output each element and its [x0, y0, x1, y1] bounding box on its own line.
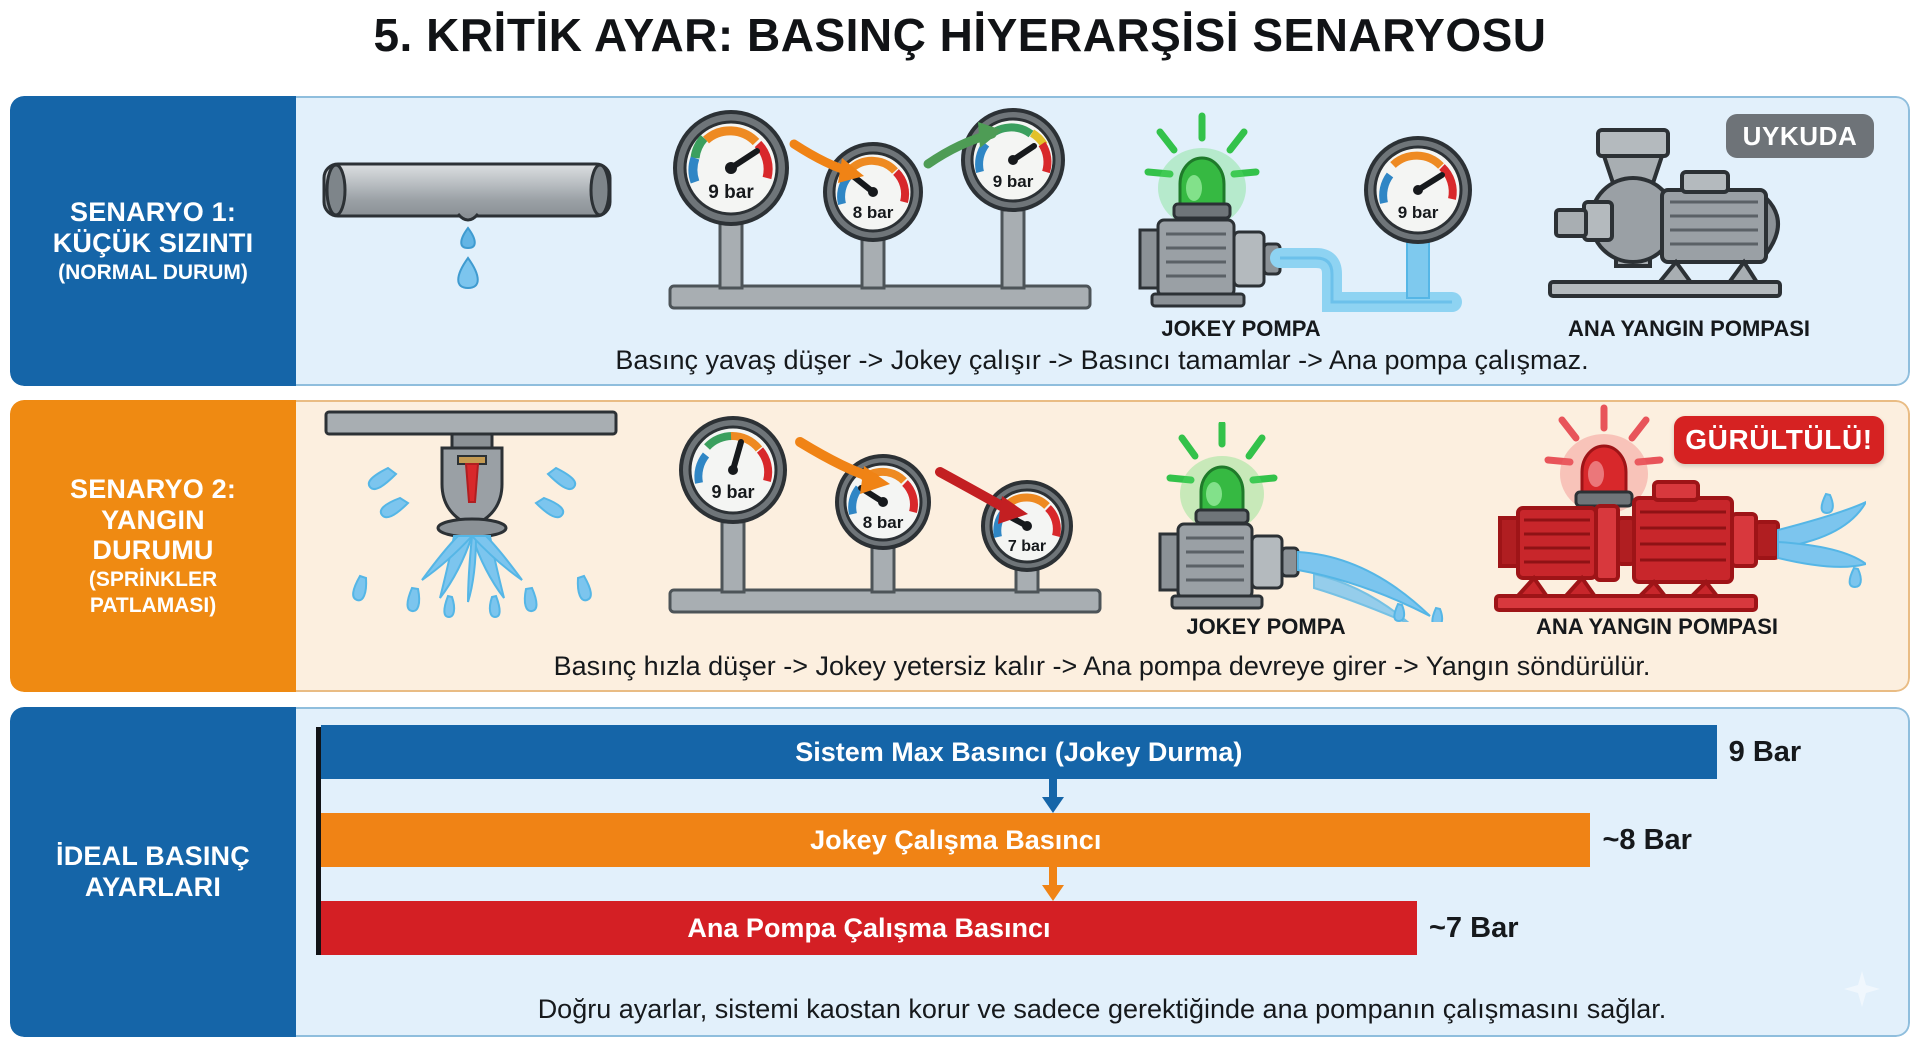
- sparkle-decoration-icon: [1842, 969, 1882, 1009]
- page-title: 5. KRİTİK AYAR: BASINÇ HİYERARŞİSİ SENAR…: [0, 8, 1920, 62]
- scenario-1-scene: 9 bar 8 bar: [296, 98, 1908, 324]
- main-pump-label-scenario-2: ANA YANGIN POMPASI: [1492, 614, 1822, 640]
- svg-text:9 bar: 9 bar: [1398, 203, 1439, 222]
- scenario-1-panel: SENARYO 1: KÜÇÜK SIZINTI (NORMAL DURUM): [10, 96, 1910, 386]
- main-pump-label-scenario-1: ANA YANGIN POMPASI: [1524, 316, 1854, 342]
- chart-bar-row-0: Sistem Max Basıncı (Jokey Durma) 9 Bar: [321, 725, 1898, 779]
- scenario-1-caption: Basınç yavaş düşer -> Jokey çalışır -> B…: [296, 345, 1908, 376]
- scenario-1-label: SENARYO 1: KÜÇÜK SIZINTI (NORMAL DURUM): [10, 96, 296, 386]
- jockey-pump-label-scenario-1: JOKEY POMPA: [1141, 316, 1341, 342]
- scenario-2-gauge-manifold: 9 bar 8 bar: [666, 414, 1106, 626]
- ideal-settings-label: İDEAL BASINÇ AYARLARI: [10, 707, 296, 1037]
- chart-bar-row-2: Ana Pompa Çalışma Basıncı ~7 Bar: [321, 901, 1898, 955]
- chart-bar-label-2: Ana Pompa Çalışma Basıncı: [321, 901, 1417, 955]
- scenario-1-body: 9 bar 8 bar: [296, 96, 1910, 386]
- scenario-2-panel: SENARYO 2: YANGIN DURUMU (SPRİNKLER PATL…: [10, 400, 1910, 692]
- scenario-2-title-line5: PATLAMASI): [90, 594, 216, 618]
- status-badge-uykuda: UYKUDA: [1726, 114, 1874, 158]
- chart-down-arrow-blue-icon: [1040, 779, 1066, 813]
- gauge-9bar-c: 9 bar: [681, 418, 785, 522]
- svg-text:9 bar: 9 bar: [708, 182, 754, 203]
- scenario-2-title-line4: (SPRİNKLER: [89, 568, 217, 592]
- ideal-settings-title-line2: AYARLARI: [85, 872, 221, 903]
- svg-text:9 bar: 9 bar: [711, 482, 754, 502]
- ideal-settings-panel: İDEAL BASINÇ AYARLARI Sistem Max Basıncı…: [10, 707, 1910, 1037]
- scenario-1-title-line1: SENARYO 1:: [70, 197, 236, 228]
- gauge-8bar-a: 8 bar: [825, 144, 921, 240]
- chart-bar-label-1: Jokey Çalışma Basıncı: [321, 813, 1590, 867]
- jockey-pump-assembly-scenario-1: 9 bar: [1116, 108, 1536, 324]
- ideal-settings-caption: Doğru ayarlar, sistemi kaostan korur ve …: [296, 994, 1908, 1025]
- leaking-pipe-icon: [318, 154, 618, 304]
- ideal-settings-body: Sistem Max Basıncı (Jokey Durma) 9 Bar J…: [296, 707, 1910, 1037]
- chart-bar-value-1: ~8 Bar: [1602, 824, 1691, 857]
- svg-text:8 bar: 8 bar: [853, 203, 894, 222]
- pressure-hierarchy-bar-chart: Sistem Max Basıncı (Jokey Durma) 9 Bar J…: [310, 723, 1898, 959]
- scenario-2-caption: Basınç hızla düşer -> Jokey yetersiz kal…: [296, 651, 1908, 682]
- svg-text:9 bar: 9 bar: [993, 172, 1034, 191]
- scenario-1-title-line3: (NORMAL DURUM): [58, 261, 248, 285]
- scenario-2-title-line1: SENARYO 2:: [70, 474, 236, 505]
- gauge-9bar-b: 9 bar: [963, 110, 1063, 210]
- gauge-9bar-a: 9 bar: [675, 112, 787, 224]
- ideal-settings-title-line1: İDEAL BASINÇ: [56, 841, 250, 872]
- status-badge-gurultulu: GÜRÜLTÜLÜ!: [1674, 416, 1884, 464]
- sprinkler-burst-icon: [316, 406, 646, 626]
- svg-text:7 bar: 7 bar: [1008, 538, 1046, 555]
- jockey-pump-label-scenario-2: JOKEY POMPA: [1156, 614, 1376, 640]
- scenario-1-gauge-manifold: 9 bar 8 bar: [666, 106, 1096, 324]
- scenario-2-label: SENARYO 2: YANGIN DURUMU (SPRİNKLER PATL…: [10, 400, 296, 692]
- gauge-7bar: 7 bar: [983, 482, 1071, 570]
- scenario-2-scene: 9 bar 8 bar: [296, 402, 1908, 628]
- scenario-2-body: 9 bar 8 bar: [296, 400, 1910, 692]
- chart-bar-value-0: 9 Bar: [1729, 736, 1802, 769]
- chart-bar-value-2: ~7 Bar: [1429, 912, 1518, 945]
- gauge-9bar-outlet: 9 bar: [1366, 138, 1470, 298]
- svg-text:8 bar: 8 bar: [863, 513, 904, 532]
- scenario-1-title-line2: KÜÇÜK SIZINTI: [53, 228, 254, 259]
- scenario-2-title-line3: DURUMU: [92, 535, 213, 566]
- green-beacon-icon: [1148, 116, 1256, 228]
- chart-down-arrow-orange-icon: [1040, 867, 1066, 901]
- chart-bar-label-0: Sistem Max Basıncı (Jokey Durma): [321, 725, 1717, 779]
- infographic-page: 5. KRİTİK AYAR: BASINÇ HİYERARŞİSİ SENAR…: [0, 0, 1920, 1047]
- scenario-2-title-line2: YANGIN: [101, 505, 205, 536]
- jockey-pump-assembly-scenario-2: [1136, 422, 1516, 622]
- chart-bar-row-1: Jokey Çalışma Basıncı ~8 Bar: [321, 813, 1898, 867]
- green-beacon-icon-2: [1170, 424, 1274, 532]
